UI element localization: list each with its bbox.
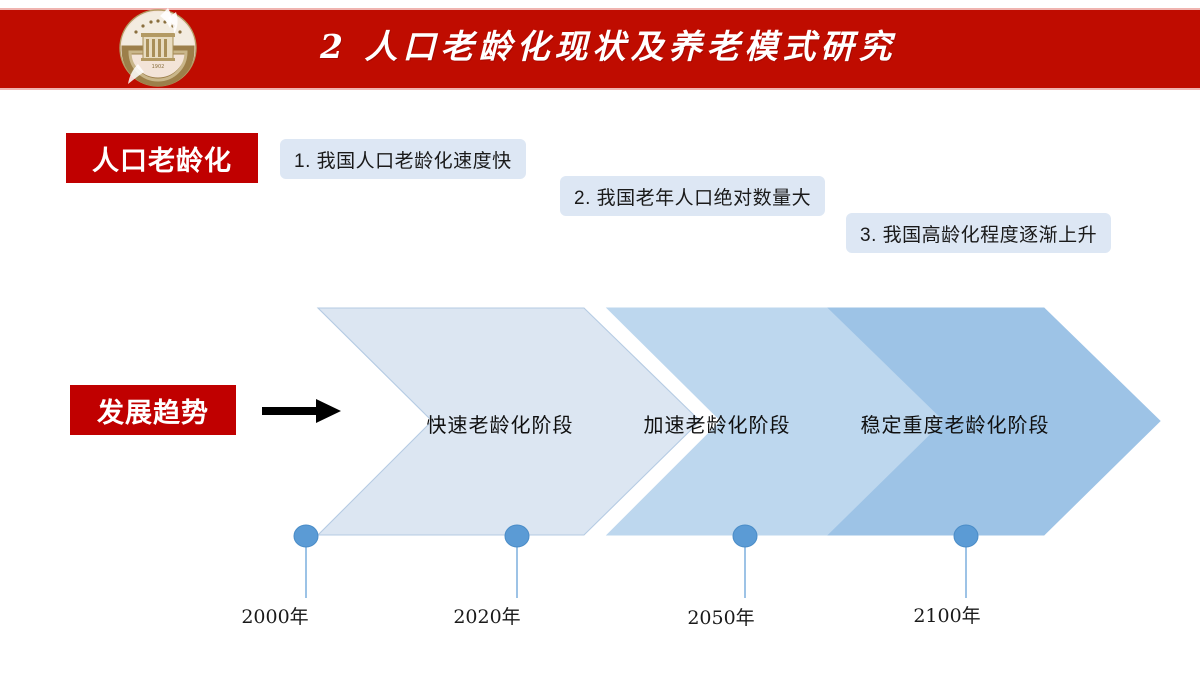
right-arrow-icon	[262, 398, 342, 424]
stage-label-1: 快速老龄化阶段	[400, 409, 600, 438]
stage-label-2: 加速老龄化阶段	[617, 409, 817, 438]
year-markers	[294, 525, 978, 547]
stage-label-3: 稳定重度老龄化阶段	[835, 409, 1075, 438]
section-label-aging: 人口老龄化	[66, 133, 258, 183]
university-emblem-icon: 1902	[116, 6, 200, 90]
svg-text:1902: 1902	[152, 64, 165, 70]
year-label-2100: 2100年	[887, 601, 1007, 628]
page-title: 2 人口老龄化现状及养老模式研究	[320, 20, 1020, 68]
aging-point-2: 2. 我国老年人口绝对数量大	[560, 176, 825, 216]
year-label-2000: 2000年	[215, 602, 335, 629]
year-label-2020: 2020年	[427, 602, 547, 629]
year-connectors	[306, 537, 966, 598]
slide-canvas: 1902 2 人口老龄化现状及养老模式研究 人口老龄化 1. 我国人口老龄化速度…	[0, 0, 1200, 675]
timeline-chevrons	[0, 0, 1200, 675]
aging-point-3: 3. 我国高龄化程度逐渐上升	[846, 213, 1111, 253]
aging-point-1: 1. 我国人口老龄化速度快	[280, 139, 526, 179]
year-label-2050: 2050年	[661, 603, 781, 630]
section-label-trend: 发展趋势	[70, 385, 236, 435]
